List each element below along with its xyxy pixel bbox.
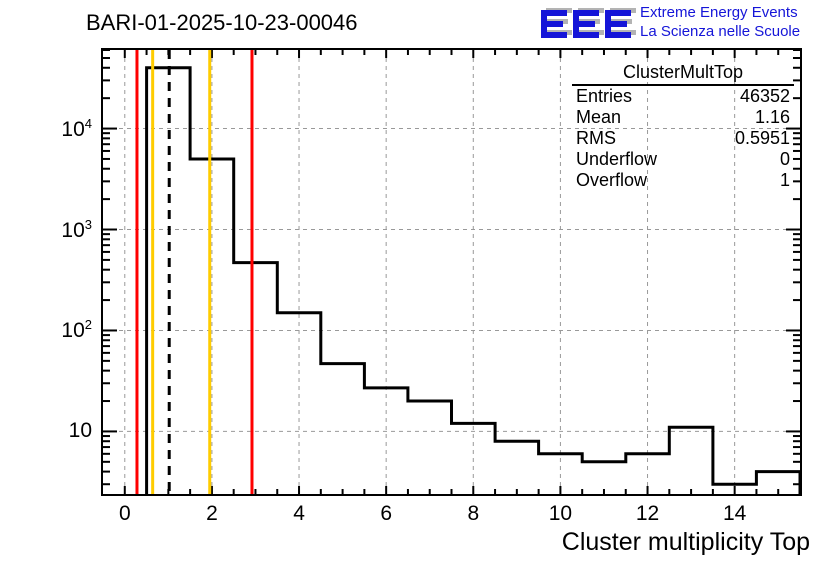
stats-box: ClusterMultTop Entries46352Mean1.16RMS0.…: [572, 62, 794, 198]
stats-row-value: 46352: [740, 86, 790, 107]
stats-row: Entries46352: [572, 86, 794, 107]
stats-row: Mean1.16: [572, 107, 794, 128]
stats-row: Underflow0: [572, 149, 794, 170]
x-tick-label: 14: [723, 502, 746, 526]
stats-row-label: Mean: [576, 107, 621, 128]
y-tick-label: 102: [30, 317, 92, 343]
page-title: BARI-01-2025-10-23-00046: [86, 10, 358, 36]
stats-row-label: Entries: [576, 86, 632, 107]
stats-row-label: Underflow: [576, 149, 657, 170]
eee-logo-mark-icon: [540, 4, 636, 40]
stats-rows: Entries46352Mean1.16RMS0.5951Underflow0O…: [572, 86, 794, 191]
x-tick-label: 6: [380, 502, 392, 526]
x-tick-label: 4: [293, 502, 305, 526]
root-canvas: BARI-01-2025-10-23-00046: [0, 0, 836, 572]
stats-row-label: Overflow: [576, 170, 647, 191]
y-tick-label: 103: [30, 217, 92, 243]
x-axis-title: Cluster multiplicity Top: [562, 528, 810, 557]
eee-logo-text: Extreme Energy Events La Scienza nelle S…: [640, 3, 800, 41]
stats-row: RMS0.5951: [572, 128, 794, 149]
stats-row-value: 1: [780, 170, 790, 191]
y-tick-label: 104: [30, 116, 92, 142]
x-tick-label: 0: [119, 502, 131, 526]
y-tick-label: 10: [30, 419, 92, 443]
eee-logo-line1: Extreme Energy Events: [640, 3, 800, 22]
x-tick-label: 10: [549, 502, 572, 526]
stats-row-value: 1.16: [755, 107, 790, 128]
stats-row: Overflow1: [572, 170, 794, 191]
eee-logo: Extreme Energy Events La Scienza nelle S…: [540, 3, 832, 43]
x-tick-label: 12: [636, 502, 659, 526]
x-tick-label: 2: [206, 502, 218, 526]
stats-histogram-name: ClusterMultTop: [572, 62, 794, 86]
x-tick-label: 8: [467, 502, 479, 526]
stats-row-value: 0.5951: [735, 128, 790, 149]
stats-row-label: RMS: [576, 128, 616, 149]
stats-row-value: 0: [780, 149, 790, 170]
eee-logo-line2: La Scienza nelle Scuole: [640, 22, 800, 41]
